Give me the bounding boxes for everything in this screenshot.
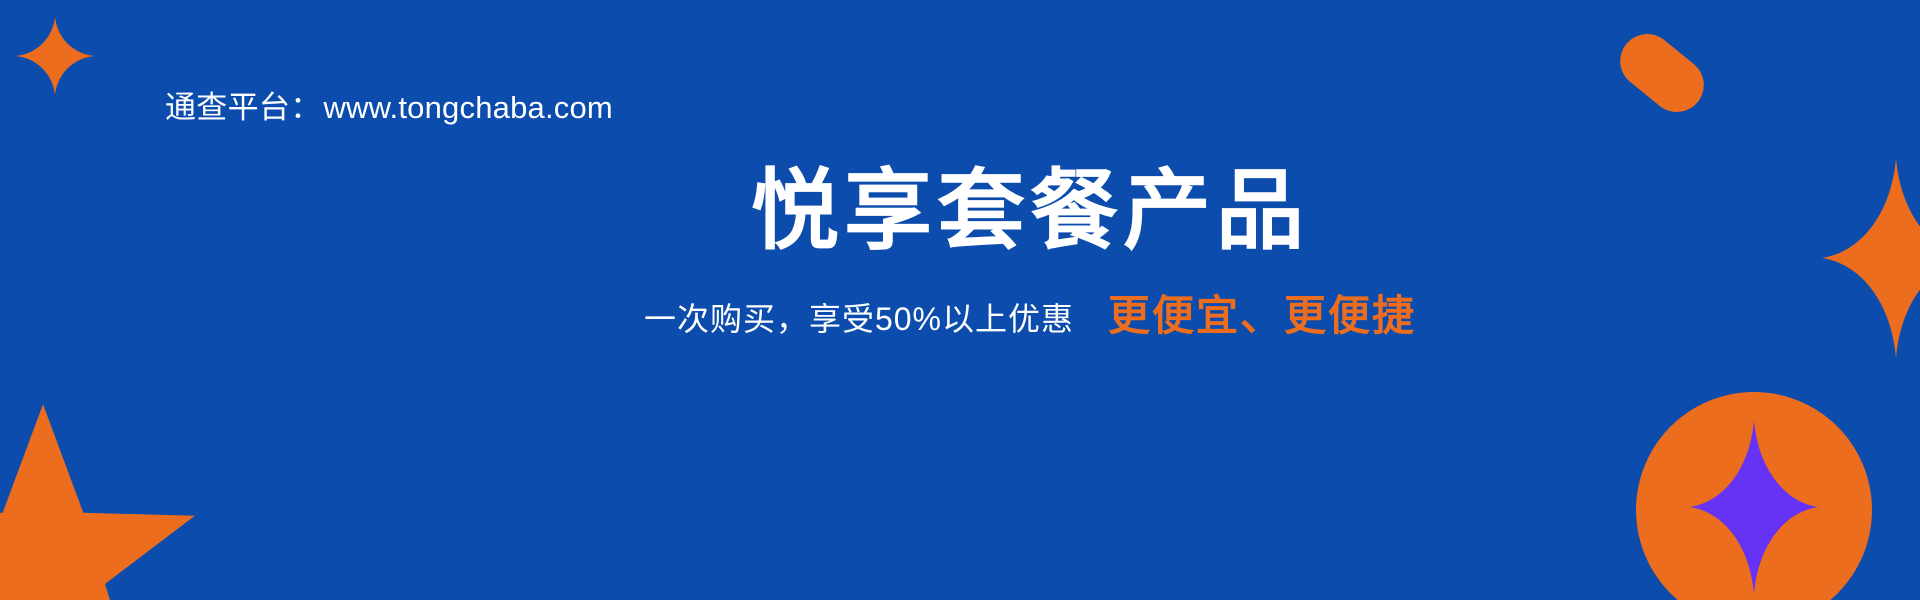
subtitle-row: 一次购买，享受50%以上优惠 更便宜、更便捷 [0, 292, 1920, 343]
site-url: www.tongchaba.com [324, 90, 613, 125]
site-line: 通查平台：www.tongchaba.com [165, 86, 613, 130]
promo-banner: 通查平台：www.tongchaba.com 悦享套餐产品 一次购买，享受50%… [0, 0, 1920, 600]
subtitle-text: 一次购买，享受50%以上优惠 [644, 295, 1074, 343]
page-title: 悦享套餐产品 [0, 158, 1920, 264]
site-label: 通查平台： [165, 90, 322, 125]
subtitle-highlight-text: 更便宜、更便捷 [1108, 292, 1416, 340]
text-layer: 通查平台：www.tongchaba.com 悦享套餐产品 一次购买，享受50%… [0, 0, 1920, 600]
